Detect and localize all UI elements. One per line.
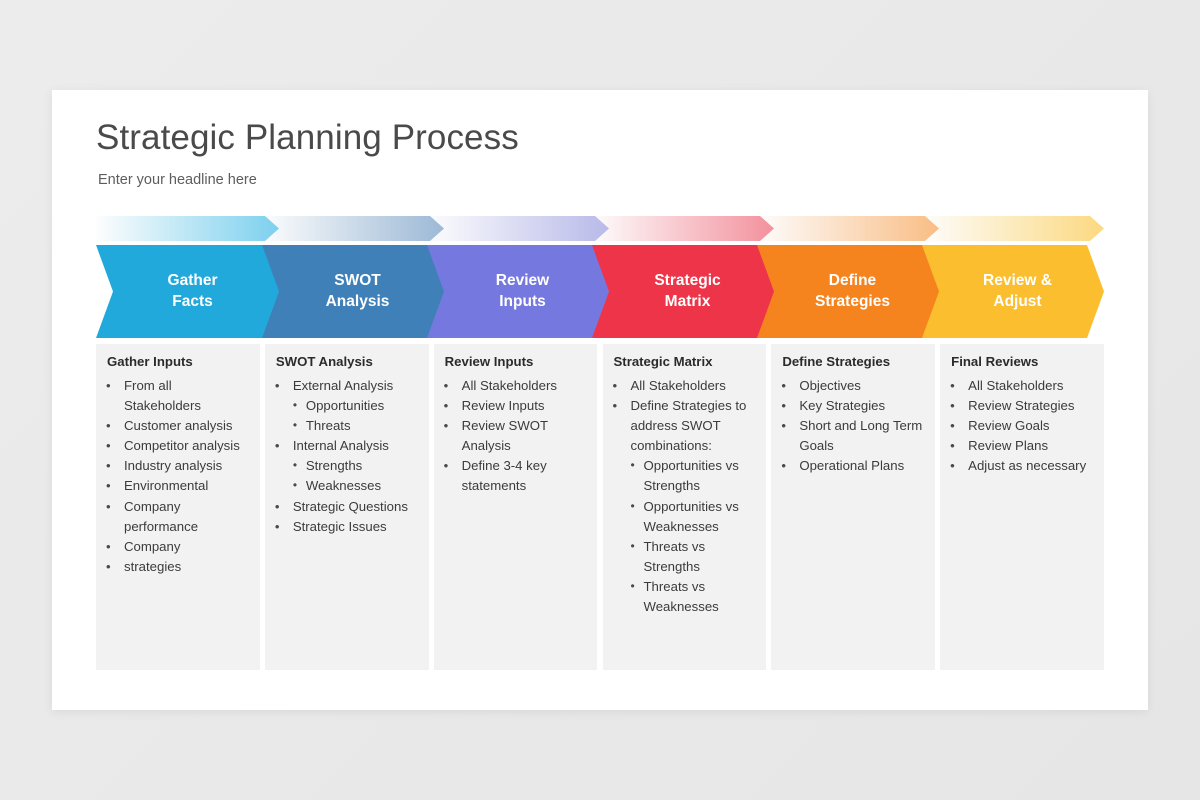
list-item: •Review SWOT Analysis bbox=[442, 416, 588, 456]
list-item-label: External Analysis bbox=[293, 376, 419, 396]
bullet-icon: • bbox=[106, 456, 124, 476]
list-item: •strategies bbox=[104, 557, 250, 577]
bullet-icon: • bbox=[293, 476, 306, 496]
list-item: •Review Plans bbox=[948, 436, 1094, 456]
bullet-icon: • bbox=[275, 517, 293, 537]
list-item-label: strategies bbox=[124, 557, 250, 577]
list-item-label: Short and Long Term Goals bbox=[799, 416, 925, 456]
list-item: •Customer analysis bbox=[104, 416, 250, 436]
list-item: •Review Goals bbox=[948, 416, 1094, 436]
list-item-label: Threats bbox=[306, 416, 419, 436]
process-step-5[interactable]: Define Strategies bbox=[756, 216, 939, 338]
bullet-icon: • bbox=[106, 436, 124, 456]
list-item: •Competitor analysis bbox=[104, 436, 250, 456]
list-item: •Threats bbox=[273, 416, 419, 436]
step-chevron-body[interactable]: Define Strategies bbox=[756, 245, 939, 338]
list-item: •Short and Long Term Goals bbox=[779, 416, 925, 456]
list-item-label: Strengths bbox=[306, 456, 419, 476]
list-item-label: Review SWOT Analysis bbox=[462, 416, 588, 456]
list-item-label: Competitor analysis bbox=[124, 436, 250, 456]
list-item-label: All Stakeholders bbox=[462, 376, 588, 396]
process-step-2[interactable]: SWOT Analysis bbox=[261, 216, 444, 338]
list-item-label: Company bbox=[124, 537, 250, 557]
list-item-label: Customer analysis bbox=[124, 416, 250, 436]
bullet-icon: • bbox=[106, 537, 124, 557]
bullet-icon: • bbox=[631, 497, 644, 537]
detail-columns: Gather Inputs•From all Stakeholders•Cust… bbox=[96, 344, 1104, 670]
list-item: •Environmental bbox=[104, 476, 250, 496]
list-item-label: Threats vs Weaknesses bbox=[644, 577, 757, 617]
step-accent-strip bbox=[96, 216, 279, 241]
list-item-label: Review Inputs bbox=[462, 396, 588, 416]
step-accent-strip bbox=[591, 216, 774, 241]
bullet-icon: • bbox=[444, 416, 462, 456]
bullet-icon: • bbox=[275, 376, 293, 396]
list-item: •Review Strategies bbox=[948, 396, 1094, 416]
list-item: •Define Strategies to address SWOT combi… bbox=[611, 396, 757, 456]
column-heading: Final Reviews bbox=[951, 353, 1094, 370]
list-item: •Industry analysis bbox=[104, 456, 250, 476]
bullet-icon: • bbox=[293, 416, 306, 436]
list-item-label: Define Strategies to address SWOT combin… bbox=[631, 396, 757, 456]
bullet-icon: • bbox=[631, 537, 644, 577]
list-item: •From all Stakeholders bbox=[104, 376, 250, 416]
list-item-label: Key Strategies bbox=[799, 396, 925, 416]
list-item-label: Industry analysis bbox=[124, 456, 250, 476]
list-item: •Strengths bbox=[273, 456, 419, 476]
bullet-icon: • bbox=[950, 436, 968, 456]
page-title: Strategic Planning Process bbox=[96, 118, 519, 158]
list-item: •Opportunities bbox=[273, 396, 419, 416]
list-item-label: Review Goals bbox=[968, 416, 1094, 436]
step-accent-strip bbox=[756, 216, 939, 241]
list-item: •Weaknesses bbox=[273, 476, 419, 496]
detail-column-2: SWOT Analysis•External Analysis•Opportun… bbox=[265, 344, 429, 670]
bullet-icon: • bbox=[950, 416, 968, 436]
bullet-icon: • bbox=[106, 497, 124, 537]
step-label: SWOT Analysis bbox=[316, 271, 390, 312]
list-item-label: From all Stakeholders bbox=[124, 376, 250, 416]
slide-canvas: Strategic Planning Process Enter your he… bbox=[52, 90, 1148, 710]
list-item-label: Adjust as necessary bbox=[968, 456, 1094, 476]
list-item: •Company bbox=[104, 537, 250, 557]
bullet-icon: • bbox=[781, 456, 799, 476]
list-item-label: Review Strategies bbox=[968, 396, 1094, 416]
bullet-icon: • bbox=[631, 577, 644, 617]
step-label: Review & Adjust bbox=[973, 271, 1052, 312]
bullet-icon: • bbox=[781, 416, 799, 456]
bullet-icon: • bbox=[613, 396, 631, 456]
process-step-4[interactable]: Strategic Matrix bbox=[591, 216, 774, 338]
step-chevron-body[interactable]: Gather Facts bbox=[96, 245, 279, 338]
column-heading: Gather Inputs bbox=[107, 353, 250, 370]
list-item: •Company performance bbox=[104, 497, 250, 537]
list-item-label: Objectives bbox=[799, 376, 925, 396]
bullet-icon: • bbox=[106, 376, 124, 416]
list-item: •Opportunities vs Strengths bbox=[611, 456, 757, 496]
step-accent-strip bbox=[426, 216, 609, 241]
step-label: Review Inputs bbox=[486, 271, 549, 312]
step-accent-strip bbox=[921, 216, 1104, 241]
list-item-label: Threats vs Strengths bbox=[644, 537, 757, 577]
list-item: •All Stakeholders bbox=[442, 376, 588, 396]
step-label: Define Strategies bbox=[805, 271, 890, 312]
list-item-label: Strategic Questions bbox=[293, 497, 419, 517]
bullet-icon: • bbox=[631, 456, 644, 496]
bullet-icon: • bbox=[444, 376, 462, 396]
list-item-label: Operational Plans bbox=[799, 456, 925, 476]
column-heading: SWOT Analysis bbox=[276, 353, 419, 370]
list-item-label: Opportunities bbox=[306, 396, 419, 416]
list-item-label: Strategic Issues bbox=[293, 517, 419, 537]
detail-column-1: Gather Inputs•From all Stakeholders•Cust… bbox=[96, 344, 260, 670]
list-item: •Objectives bbox=[779, 376, 925, 396]
detail-column-4: Strategic Matrix•All Stakeholders•Define… bbox=[603, 344, 767, 670]
column-heading: Define Strategies bbox=[782, 353, 925, 370]
bullet-icon: • bbox=[444, 396, 462, 416]
page-subtitle: Enter your headline here bbox=[98, 172, 257, 188]
bullet-icon: • bbox=[106, 416, 124, 436]
bullet-icon: • bbox=[275, 436, 293, 456]
bullet-icon: • bbox=[293, 396, 306, 416]
list-item: •Review Inputs bbox=[442, 396, 588, 416]
bullet-icon: • bbox=[781, 396, 799, 416]
bullet-icon: • bbox=[950, 376, 968, 396]
list-item: •Key Strategies bbox=[779, 396, 925, 416]
list-item-label: Opportunities vs Strengths bbox=[644, 456, 757, 496]
detail-column-6: Final Reviews•All Stakeholders•Review St… bbox=[940, 344, 1104, 670]
bullet-icon: • bbox=[293, 456, 306, 476]
process-step-1[interactable]: Gather Facts bbox=[96, 216, 279, 338]
list-item: •All Stakeholders bbox=[948, 376, 1094, 396]
list-item-label: Environmental bbox=[124, 476, 250, 496]
list-item-label: Company performance bbox=[124, 497, 250, 537]
list-item: •Threats vs Strengths bbox=[611, 537, 757, 577]
list-item: •Threats vs Weaknesses bbox=[611, 577, 757, 617]
list-item-label: Opportunities vs Weaknesses bbox=[644, 497, 757, 537]
detail-column-3: Review Inputs•All Stakeholders•Review In… bbox=[434, 344, 598, 670]
list-item: •Strategic Issues bbox=[273, 517, 419, 537]
bullet-icon: • bbox=[613, 376, 631, 396]
step-chevron-body[interactable]: SWOT Analysis bbox=[261, 245, 444, 338]
process-step-6[interactable]: Review & Adjust bbox=[921, 216, 1104, 338]
list-item-label: Define 3-4 key statements bbox=[462, 456, 588, 496]
bullet-icon: • bbox=[781, 376, 799, 396]
bullet-icon: • bbox=[950, 396, 968, 416]
step-chevron-body[interactable]: Strategic Matrix bbox=[591, 245, 774, 338]
list-item: •Adjust as necessary bbox=[948, 456, 1094, 476]
list-item: •Operational Plans bbox=[779, 456, 925, 476]
list-item-label: Weaknesses bbox=[306, 476, 419, 496]
bullet-icon: • bbox=[950, 456, 968, 476]
list-item-label: All Stakeholders bbox=[631, 376, 757, 396]
step-label: Gather Facts bbox=[158, 271, 218, 312]
bullet-icon: • bbox=[444, 456, 462, 496]
process-step-3[interactable]: Review Inputs bbox=[426, 216, 609, 338]
list-item-label: Internal Analysis bbox=[293, 436, 419, 456]
list-item: •Opportunities vs Weaknesses bbox=[611, 497, 757, 537]
column-heading: Review Inputs bbox=[445, 353, 588, 370]
bullet-icon: • bbox=[106, 557, 124, 577]
step-chevron-body[interactable]: Review Inputs bbox=[426, 245, 609, 338]
step-label: Strategic Matrix bbox=[644, 271, 720, 312]
list-item-label: Review Plans bbox=[968, 436, 1094, 456]
list-item: •All Stakeholders bbox=[611, 376, 757, 396]
bullet-icon: • bbox=[106, 476, 124, 496]
detail-column-5: Define Strategies•Objectives•Key Strateg… bbox=[771, 344, 935, 670]
list-item-label: All Stakeholders bbox=[968, 376, 1094, 396]
column-heading: Strategic Matrix bbox=[614, 353, 757, 370]
list-item: •Strategic Questions bbox=[273, 497, 419, 517]
list-item: •Internal Analysis bbox=[273, 436, 419, 456]
list-item: •External Analysis bbox=[273, 376, 419, 396]
process-chevron-band: Gather FactsSWOT AnalysisReview InputsSt… bbox=[96, 216, 1104, 338]
bullet-icon: • bbox=[275, 497, 293, 517]
step-accent-strip bbox=[261, 216, 444, 241]
step-chevron-body[interactable]: Review & Adjust bbox=[921, 245, 1104, 338]
list-item: •Define 3-4 key statements bbox=[442, 456, 588, 496]
